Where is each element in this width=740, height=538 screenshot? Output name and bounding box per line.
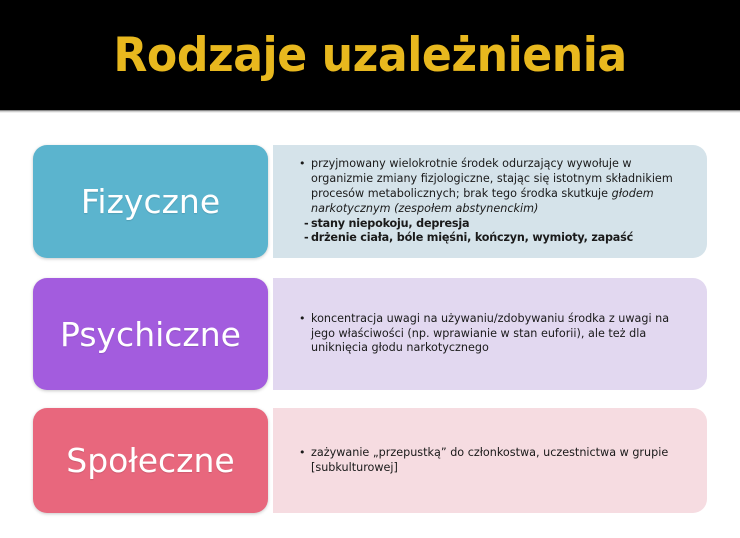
- bullet-item: koncentracja uwagi na używaniu/zdobywani…: [311, 312, 691, 357]
- sub-bullet-item: drżenie ciała, bóle mięśni, kończyn, wym…: [311, 231, 691, 245]
- category-chip-physical[interactable]: Fizyczne: [33, 145, 268, 258]
- bullet-item: przyjmowany wielokrotnie środek odurzają…: [311, 157, 691, 217]
- bullet-item: zażywanie „przepustką” do członkostwa, u…: [311, 446, 691, 476]
- category-chip-social[interactable]: Społeczne: [33, 408, 268, 513]
- title-banner: Rodzaje uzależnienia: [0, 0, 740, 110]
- content-panel-psychological: koncentracja uwagi na używaniu/zdobywani…: [273, 278, 707, 390]
- category-chip-label: Fizyczne: [81, 185, 220, 218]
- category-chip-label: Psychiczne: [60, 318, 241, 351]
- addiction-row-psychological: koncentracja uwagi na używaniu/zdobywani…: [33, 278, 707, 390]
- category-chip-psychological[interactable]: Psychiczne: [33, 278, 268, 390]
- sub-bullet-item: stany niepokoju, depresja: [311, 217, 691, 231]
- content-area: przyjmowany wielokrotnie środek odurzają…: [0, 113, 740, 538]
- addiction-row-social: zażywanie „przepustką” do członkostwa, u…: [33, 408, 707, 513]
- page-title: Rodzaje uzależnienia: [113, 32, 626, 79]
- addiction-row-physical: przyjmowany wielokrotnie środek odurzają…: [33, 145, 707, 258]
- category-chip-label: Społeczne: [66, 444, 234, 477]
- content-panel-social: zażywanie „przepustką” do członkostwa, u…: [273, 408, 707, 513]
- content-panel-physical: przyjmowany wielokrotnie środek odurzają…: [273, 145, 707, 258]
